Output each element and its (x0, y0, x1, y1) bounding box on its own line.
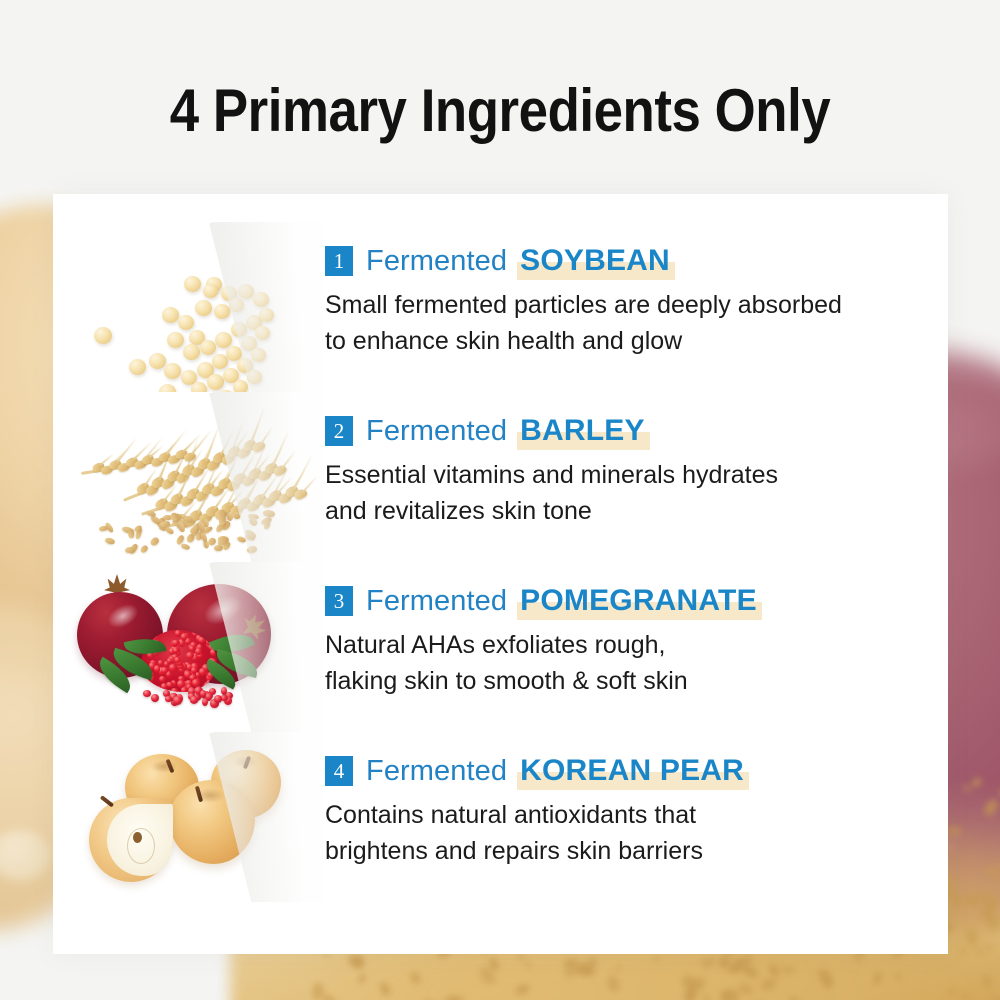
korean-pear-photo (63, 732, 323, 902)
list-item: 4 Fermented KOREAN PEAR Contains natural… (53, 732, 948, 902)
ingredient-description-line-2: to enhance skin health and glow (325, 324, 948, 360)
ingredient-name: KOREAN PEAR (520, 754, 744, 787)
pomegranate-photo (63, 562, 323, 732)
ingredient-name: BARLEY (520, 414, 645, 447)
ingredient-description-line-1: Natural AHAs exfoliates rough, (325, 628, 948, 664)
ingredient-number-badge: 4 (325, 756, 353, 786)
ingredient-label: Fermented (366, 585, 507, 618)
ingredient-label: Fermented (366, 755, 507, 788)
soybean-photo (63, 222, 323, 392)
ingredient-text: 4 Fermented KOREAN PEAR Contains natural… (325, 754, 948, 869)
ingredient-text: 2 Fermented BARLEY Essential vitamins an… (325, 414, 948, 529)
ingredient-heading: 1 Fermented SOYBEAN (325, 244, 948, 278)
ingredient-list: 1 Fermented SOYBEAN Small fermented part… (53, 222, 948, 902)
ingredient-name-wrap: SOYBEAN (520, 244, 670, 278)
ingredient-label: Fermented (366, 415, 507, 448)
ingredient-name-wrap: POMEGRANATE (520, 584, 757, 618)
ingredient-description-line-1: Essential vitamins and minerals hydrates (325, 458, 948, 494)
promo-graphic: 4 Primary Ingredients Only 1 Fermented S… (0, 0, 1000, 1000)
ingredient-heading: 2 Fermented BARLEY (325, 414, 948, 448)
ingredient-name-wrap: BARLEY (520, 414, 645, 448)
page-title: 4 Primary Ingredients Only (60, 76, 940, 145)
ingredient-description-line-2: and revitalizes skin tone (325, 494, 948, 530)
barley-photo (63, 392, 323, 562)
ingredient-description-line-2: brightens and repairs skin barriers (325, 834, 948, 870)
ingredient-name-wrap: KOREAN PEAR (520, 754, 744, 788)
ingredient-label: Fermented (366, 245, 507, 278)
list-item: 2 Fermented BARLEY Essential vitamins an… (53, 392, 948, 562)
ingredient-text: 3 Fermented POMEGRANATE Natural AHAs exf… (325, 584, 948, 699)
ingredient-description-line-2: flaking skin to smooth & soft skin (325, 664, 948, 700)
ingredient-description-line-1: Small fermented particles are deeply abs… (325, 288, 948, 324)
ingredient-text: 1 Fermented SOYBEAN Small fermented part… (325, 244, 948, 359)
ingredient-name: POMEGRANATE (520, 584, 757, 617)
ingredient-number-badge: 3 (325, 586, 353, 616)
ingredient-description-line-1: Contains natural antioxidants that (325, 798, 948, 834)
list-item: 1 Fermented SOYBEAN Small fermented part… (53, 222, 948, 392)
ingredient-number-badge: 1 (325, 246, 353, 276)
ingredient-heading: 4 Fermented KOREAN PEAR (325, 754, 948, 788)
list-item: 3 Fermented POMEGRANATE Natural AHAs exf… (53, 562, 948, 732)
ingredient-number-badge: 2 (325, 416, 353, 446)
ingredient-name: SOYBEAN (520, 244, 670, 277)
ingredient-heading: 3 Fermented POMEGRANATE (325, 584, 948, 618)
